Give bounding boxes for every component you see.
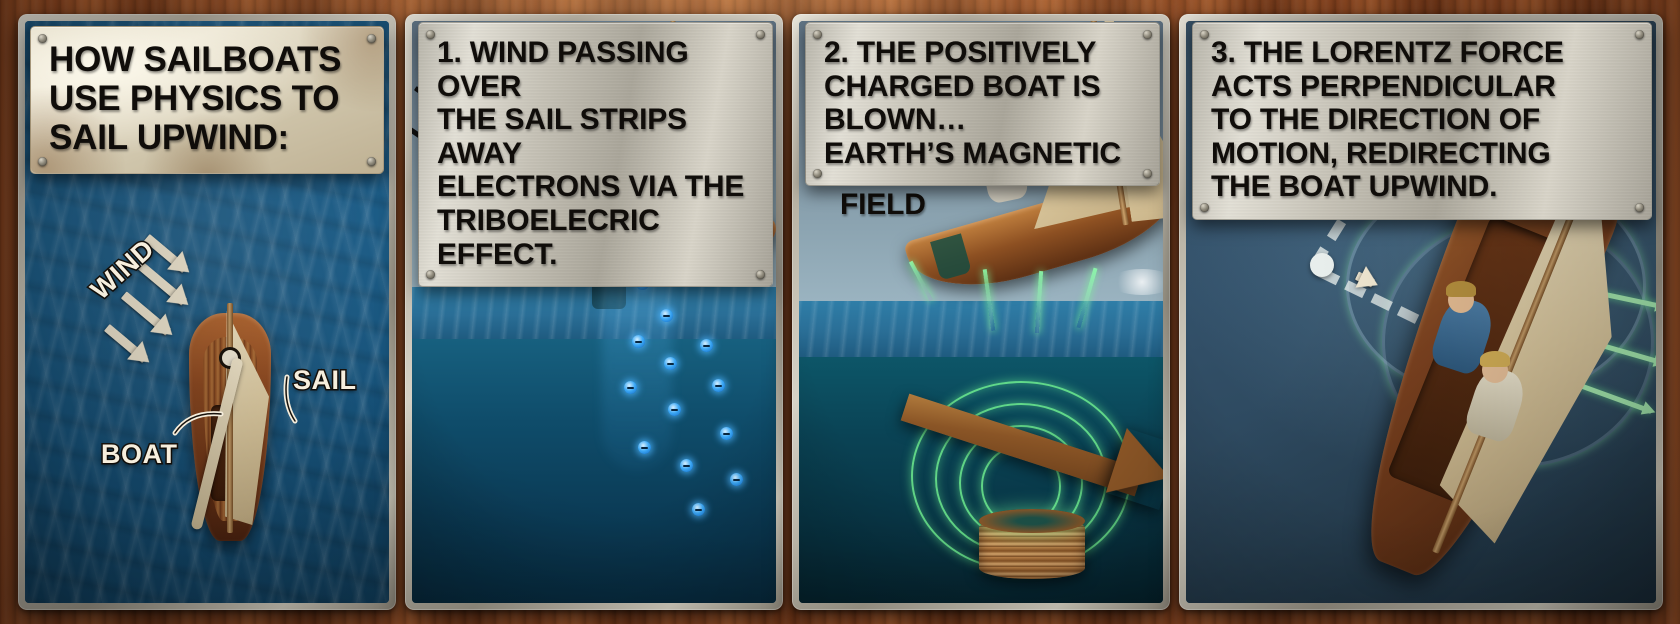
screw-icon: [756, 30, 765, 39]
sign-panel-1: HOW SAILBOATS USE PHYSICS TO SAIL UPWIND…: [30, 26, 384, 174]
electron-icon: [660, 309, 673, 322]
electron-icon: [668, 403, 681, 416]
sign-line: 3. THE LORENTZ FORCE: [1211, 36, 1633, 70]
sign-line: ACTS PERPENDICULAR: [1211, 70, 1633, 104]
screw-icon: [38, 157, 47, 166]
motion-arrow-icon: [1355, 272, 1375, 288]
screw-icon: [1200, 203, 1209, 212]
sign-line: THE SAIL STRIPS AWAY: [437, 103, 754, 170]
screw-icon: [38, 34, 47, 43]
sign-overflow-line: FIELD: [840, 188, 926, 222]
electron-icon: [730, 473, 743, 486]
sign-line: TO THE DIRECTION OF: [1211, 103, 1633, 137]
screw-icon: [813, 169, 822, 178]
sign-text: 2. THE POSITIVELY CHARGED BOAT IS BLOWN……: [824, 36, 1141, 170]
sign-line: CHARGED BOAT IS: [824, 70, 1141, 104]
electron-icon: [624, 381, 637, 394]
sign-panel-4: 3. THE LORENTZ FORCE ACTS PERPENDICULAR …: [1192, 22, 1652, 220]
pivot-dot: [1310, 253, 1334, 277]
label-sail: SAIL: [293, 365, 357, 396]
electron-icon: [700, 339, 713, 352]
sailor-hair: [1446, 281, 1476, 297]
screw-icon: [1143, 169, 1152, 178]
screw-icon: [1143, 30, 1152, 39]
screw-icon: [1635, 30, 1644, 39]
poster-board: WIND SAIL BOAT: [0, 0, 1680, 624]
sign-panel-2: 1. WIND PASSING OVER THE SAIL STRIPS AWA…: [418, 22, 773, 287]
sign-line: HOW SAILBOATS: [49, 40, 365, 79]
sea-surface: [799, 301, 1163, 357]
sign-line: BLOWN…: [824, 103, 1141, 137]
sign-line: USE PHYSICS TO: [49, 79, 365, 118]
sign-text: 3. THE LORENTZ FORCE ACTS PERPENDICULAR …: [1211, 36, 1633, 204]
sign-line: 1. WIND PASSING OVER: [437, 36, 754, 103]
electron-icon: [632, 335, 645, 348]
sign-text: HOW SAILBOATS USE PHYSICS TO SAIL UPWIND…: [49, 40, 365, 158]
coil-top-rim: [979, 509, 1085, 533]
sign-line: ELECTRONS VIA THE: [437, 170, 754, 204]
sign-line: MOTION, REDIRECTING: [1211, 137, 1633, 171]
electron-icon: [680, 459, 693, 472]
sign-text: 1. WIND PASSING OVER THE SAIL STRIPS AWA…: [437, 36, 754, 271]
screw-icon: [426, 270, 435, 279]
sign-line: EARTH’S MAGNETIC: [824, 137, 1141, 171]
screw-icon: [756, 270, 765, 279]
sign-line: TRIBOELECRIC EFFECT.: [437, 204, 754, 271]
sign-panel-3: 2. THE POSITIVELY CHARGED BOAT IS BLOWN……: [805, 22, 1160, 186]
screw-icon: [1635, 203, 1644, 212]
electron-icon: [712, 379, 725, 392]
screw-icon: [1200, 30, 1209, 39]
screw-icon: [367, 34, 376, 43]
sign-line: THE BOAT UPWIND.: [1211, 170, 1633, 204]
screw-icon: [813, 30, 822, 39]
sailor-hair: [1480, 351, 1510, 367]
sign-line: SAIL UPWIND:: [49, 118, 365, 157]
screw-icon: [367, 157, 376, 166]
electron-icon: [692, 503, 705, 516]
sign-line: 2. THE POSITIVELY: [824, 36, 1141, 70]
underwater: [412, 339, 776, 603]
label-boat: BOAT: [101, 439, 178, 470]
electron-icon: [638, 441, 651, 454]
electron-icon: [664, 357, 677, 370]
electron-icon: [720, 427, 733, 440]
screw-icon: [426, 30, 435, 39]
